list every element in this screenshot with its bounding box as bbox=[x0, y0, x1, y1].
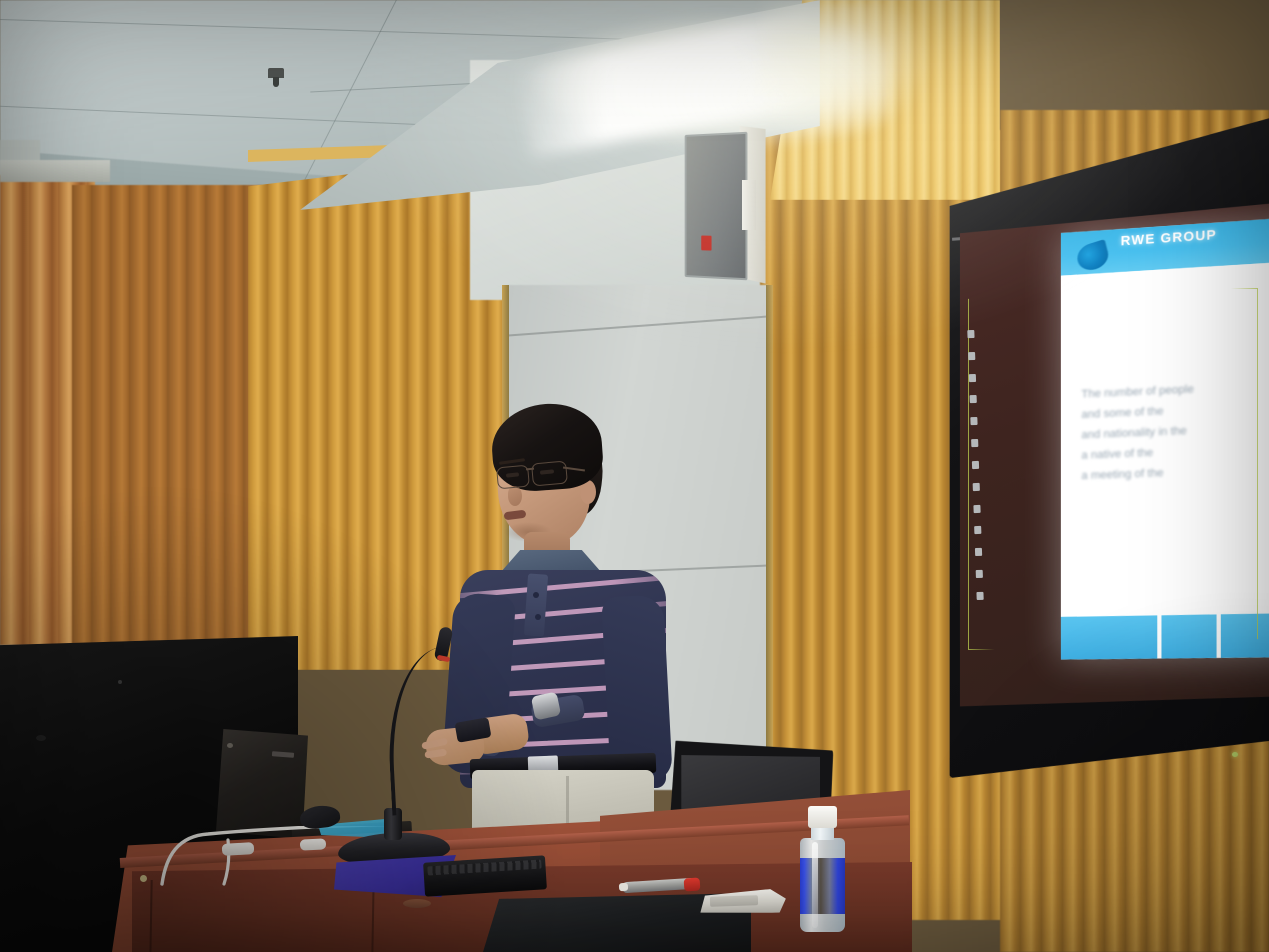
speaker-mount-bracket bbox=[742, 180, 756, 230]
presenter bbox=[420, 398, 688, 868]
display-button[interactable] bbox=[970, 395, 977, 403]
display-button[interactable] bbox=[969, 374, 976, 382]
slide-footer-cell bbox=[1161, 614, 1216, 658]
nose bbox=[508, 486, 522, 506]
display-button[interactable] bbox=[976, 570, 983, 578]
conference-room-photo: RWE GROUP The number of people and some … bbox=[0, 0, 1269, 952]
panel-screw bbox=[118, 680, 122, 684]
display-button[interactable] bbox=[976, 592, 983, 600]
panel-marking bbox=[36, 735, 46, 741]
desk-marking bbox=[403, 899, 431, 908]
panel-wall-edge-right bbox=[766, 285, 773, 790]
display-button[interactable] bbox=[967, 330, 974, 338]
display-button[interactable] bbox=[968, 352, 975, 360]
cable-connector bbox=[300, 838, 327, 850]
slide-footer-cell bbox=[1061, 615, 1157, 659]
dark-wood-wall-panel bbox=[72, 185, 262, 655]
curtain-rail bbox=[0, 160, 110, 182]
laser-pointer-cap bbox=[684, 878, 701, 892]
slide-body: The number of people and some of the and… bbox=[1061, 261, 1269, 617]
display-button[interactable] bbox=[970, 417, 977, 425]
display-button[interactable] bbox=[971, 439, 978, 447]
eyeglasses-left-lens bbox=[496, 465, 530, 490]
company-logo-icon bbox=[1075, 239, 1112, 274]
display-button[interactable] bbox=[973, 504, 980, 512]
display-button[interactable] bbox=[973, 483, 980, 491]
slide-brand-title: RWE GROUP bbox=[1121, 227, 1217, 249]
slide-footer bbox=[1061, 613, 1269, 660]
display-button[interactable] bbox=[974, 526, 981, 534]
display-screen: RWE GROUP The number of people and some … bbox=[960, 203, 1269, 717]
presentation-slide: RWE GROUP The number of people and some … bbox=[1061, 217, 1269, 660]
remote-keypad[interactable] bbox=[710, 895, 758, 907]
display-button[interactable] bbox=[972, 461, 979, 469]
shirt-button bbox=[533, 592, 539, 598]
bottle-highlight bbox=[812, 842, 818, 928]
keyboard-keys[interactable] bbox=[427, 860, 541, 876]
slide-footer-cell bbox=[1220, 613, 1269, 657]
bottle-neck bbox=[811, 826, 834, 840]
laser-pointer-tip bbox=[619, 883, 628, 892]
bottle-label bbox=[800, 858, 845, 914]
microphone-gooseneck bbox=[384, 646, 457, 815]
laptop-camera-icon bbox=[227, 743, 233, 748]
display-button[interactable] bbox=[975, 548, 982, 556]
flat-panel-display[interactable]: RWE GROUP The number of people and some … bbox=[948, 113, 1269, 793]
desk-cabinet-knob[interactable] bbox=[140, 875, 147, 882]
power-led-icon bbox=[1232, 752, 1238, 757]
sprinkler-icon bbox=[268, 68, 284, 78]
bottle-cap[interactable] bbox=[808, 806, 837, 828]
eyeglasses-right-lens bbox=[531, 461, 568, 487]
shirt-button bbox=[535, 614, 541, 620]
speaker-grille bbox=[685, 132, 748, 281]
cable-ferrite-bead bbox=[222, 842, 255, 856]
speaker-brand-badge bbox=[701, 236, 711, 251]
water-bottle[interactable] bbox=[798, 806, 846, 932]
